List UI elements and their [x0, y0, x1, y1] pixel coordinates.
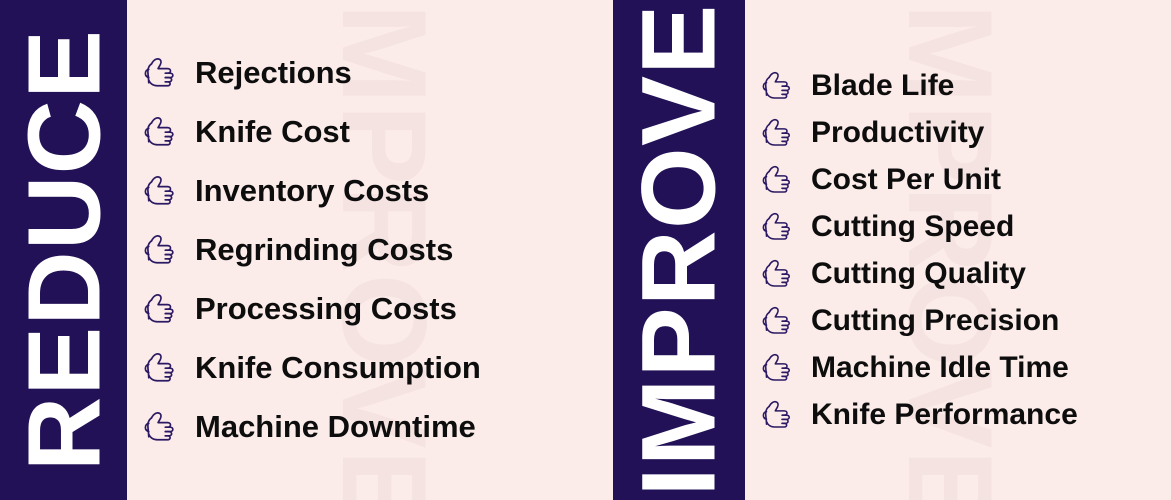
- list-item-label: Knife Cost: [195, 116, 350, 149]
- pointing-hand-right-icon: [759, 352, 799, 384]
- list-item[interactable]: Machine Downtime: [141, 410, 613, 444]
- list-item[interactable]: Knife Performance: [759, 399, 1171, 431]
- improve-bar: IMPROVE: [613, 0, 745, 500]
- reduce-panel: REDUCE IMPROVE: [0, 0, 613, 500]
- list-item[interactable]: Blade Life: [759, 70, 1171, 102]
- list-item-label: Inventory Costs: [195, 175, 429, 208]
- list-item[interactable]: Rejections: [141, 56, 613, 90]
- list-item-label: Processing Costs: [195, 293, 457, 326]
- list-item[interactable]: Cutting Precision: [759, 305, 1171, 337]
- pointing-hand-right-icon: [759, 258, 799, 290]
- list-item[interactable]: Machine Idle Time: [759, 352, 1171, 384]
- pointing-hand-right-icon: [141, 410, 183, 444]
- list-item-label: Cutting Speed: [811, 211, 1014, 243]
- list-item-label: Regrinding Costs: [195, 234, 453, 267]
- improve-list: Blade Life Product: [759, 70, 1171, 431]
- list-item-label: Cost Per Unit: [811, 164, 1001, 196]
- list-item-label: Blade Life: [811, 70, 954, 102]
- list-item-label: Cutting Quality: [811, 258, 1026, 290]
- list-item[interactable]: Productivity: [759, 117, 1171, 149]
- pointing-hand-right-icon: [759, 211, 799, 243]
- reduce-bar: REDUCE: [0, 0, 127, 500]
- pointing-hand-right-icon: [141, 174, 183, 208]
- list-item[interactable]: Cutting Quality: [759, 258, 1171, 290]
- list-item[interactable]: Cutting Speed: [759, 211, 1171, 243]
- list-item-label: Productivity: [811, 117, 984, 149]
- reduce-list: Rejections Knife C: [141, 56, 613, 444]
- list-item[interactable]: Inventory Costs: [141, 174, 613, 208]
- pointing-hand-right-icon: [759, 399, 799, 431]
- list-item-label: Machine Idle Time: [811, 352, 1069, 384]
- reduce-bar-label: REDUCE: [12, 29, 115, 471]
- list-item-label: Cutting Precision: [811, 305, 1059, 337]
- list-item-label: Knife Performance: [811, 399, 1078, 431]
- list-item-label: Knife Consumption: [195, 352, 481, 385]
- improve-panel: IMPROVE IMPROVE: [613, 0, 1171, 500]
- pointing-hand-right-icon: [141, 292, 183, 326]
- improve-content: Blade Life Product: [745, 0, 1171, 500]
- list-item-label: Machine Downtime: [195, 411, 476, 444]
- pointing-hand-right-icon: [141, 351, 183, 385]
- improve-bar-label: IMPROVE: [627, 3, 732, 496]
- list-item[interactable]: Knife Consumption: [141, 351, 613, 385]
- pointing-hand-right-icon: [759, 70, 799, 102]
- list-item-label: Rejections: [195, 57, 352, 90]
- reduce-content: Rejections Knife C: [127, 0, 613, 500]
- pointing-hand-right-icon: [141, 233, 183, 267]
- list-item[interactable]: Processing Costs: [141, 292, 613, 326]
- pointing-hand-right-icon: [759, 305, 799, 337]
- list-item[interactable]: Knife Cost: [141, 115, 613, 149]
- pointing-hand-right-icon: [141, 56, 183, 90]
- pointing-hand-right-icon: [141, 115, 183, 149]
- pointing-hand-right-icon: [759, 164, 799, 196]
- pointing-hand-right-icon: [759, 117, 799, 149]
- list-item[interactable]: Regrinding Costs: [141, 233, 613, 267]
- list-item[interactable]: Cost Per Unit: [759, 164, 1171, 196]
- reduce-improve-board: REDUCE IMPROVE: [0, 0, 1171, 500]
